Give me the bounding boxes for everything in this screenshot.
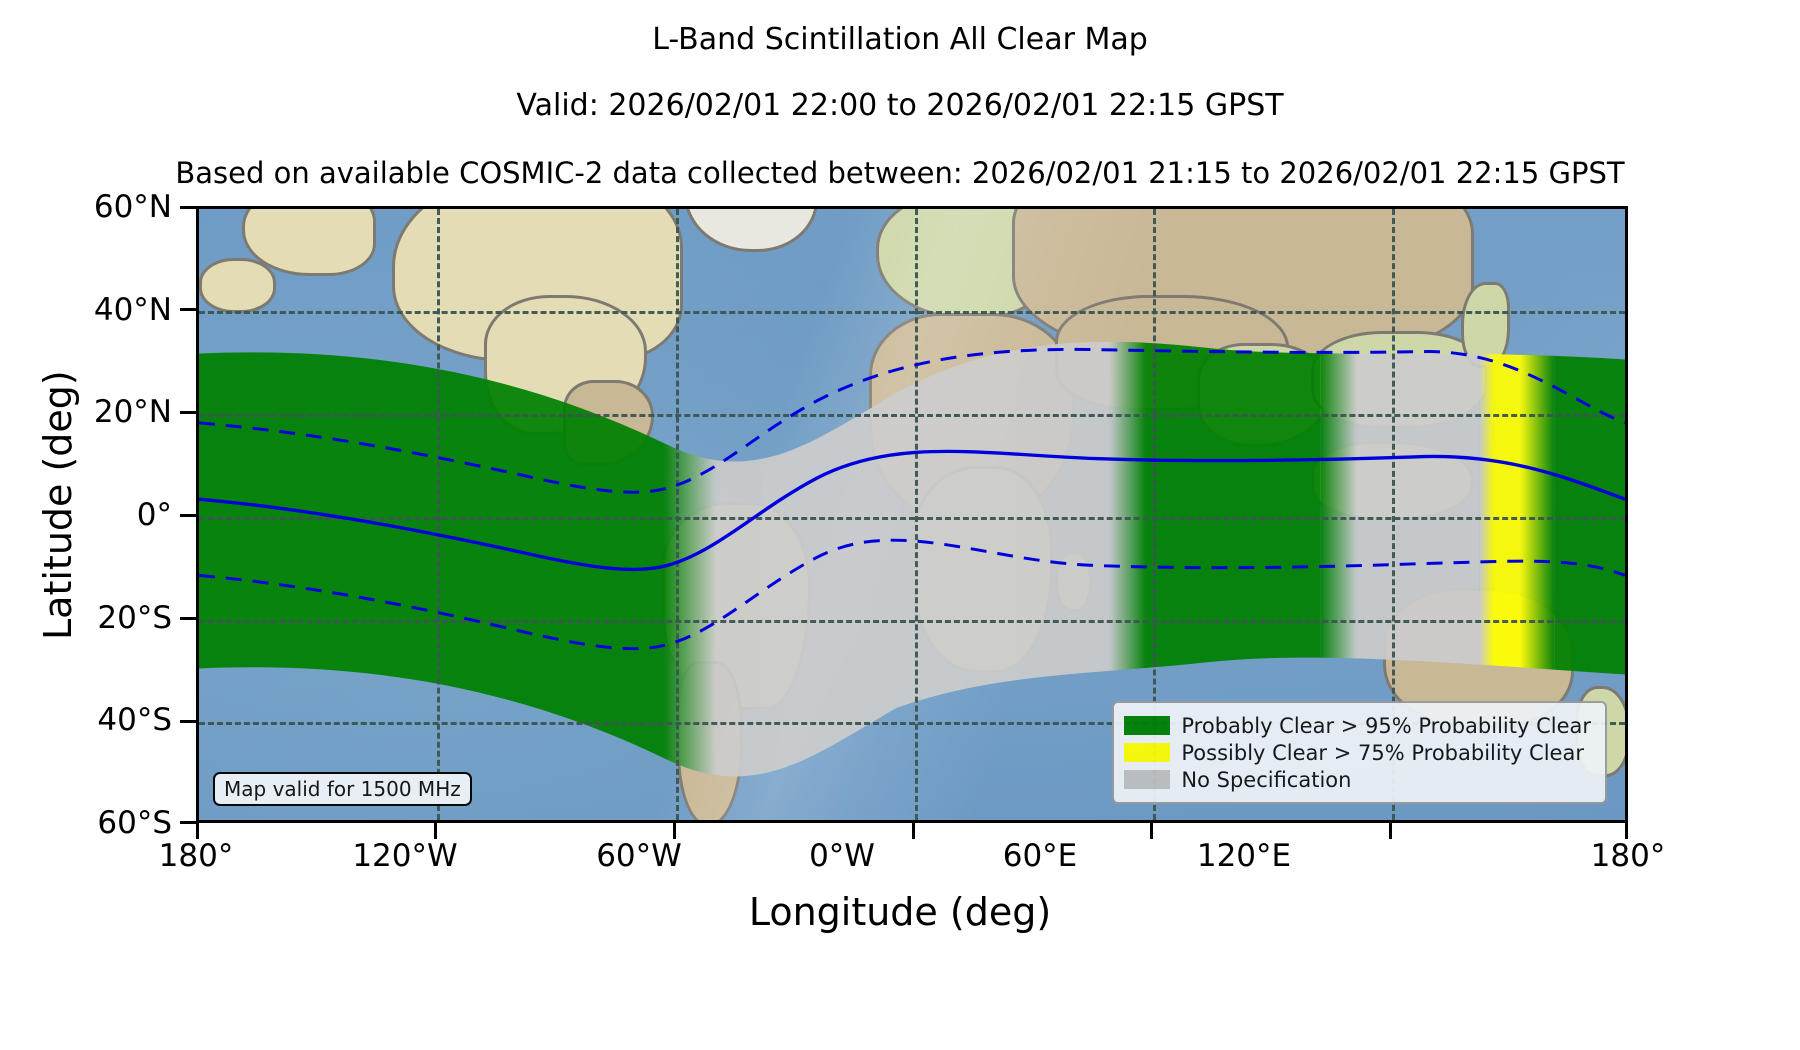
- y-tick-mark: [180, 617, 196, 620]
- legend-label-probably-clear: Probably Clear > 95% Probability Clear: [1181, 714, 1591, 738]
- y-axis-label: Latitude (deg): [36, 370, 80, 640]
- x-tick-label-120e: 120°E: [1164, 838, 1324, 874]
- legend-item-possibly-clear: Possibly Clear > 75% Probability Clear: [1124, 739, 1591, 766]
- y-tick-mark: [180, 514, 196, 517]
- x-tick-mark: [673, 823, 676, 839]
- x-axis-label: Longitude (deg): [0, 890, 1800, 934]
- x-tick-mark: [1150, 823, 1153, 839]
- x-tick-mark: [1389, 823, 1392, 839]
- y-tick-label-20s: 20°S: [97, 600, 172, 636]
- x-tick-mark: [196, 823, 199, 839]
- y-tick-label-40n: 40°N: [94, 292, 172, 328]
- y-tick-mark: [180, 206, 196, 209]
- x-tick-mark: [1625, 823, 1628, 839]
- x-tick-label-180e: 180°: [1558, 838, 1698, 874]
- x-tick-label-0: 0°W: [767, 838, 917, 874]
- legend-swatch-gray: [1124, 770, 1170, 789]
- y-tick-mark: [180, 821, 196, 824]
- x-tick-label-60e: 60°E: [965, 838, 1115, 874]
- legend-label-possibly-clear: Possibly Clear > 75% Probability Clear: [1181, 741, 1584, 765]
- map-plot-area[interactable]: Map valid for 1500 MHz Probably Clear > …: [196, 206, 1628, 823]
- frequency-annotation: Map valid for 1500 MHz: [213, 772, 472, 806]
- legend-swatch-yellow: [1124, 743, 1170, 762]
- x-tick-label-60w: 60°W: [564, 838, 714, 874]
- magnetic-equator-solid-line: [199, 451, 1625, 569]
- y-tick-mark: [180, 308, 196, 311]
- y-tick-label-60s: 60°S: [97, 805, 172, 841]
- legend-swatch-green: [1124, 716, 1170, 735]
- x-tick-mark: [434, 823, 437, 839]
- crest-south-dashed-line: [199, 540, 1625, 648]
- y-tick-label-60n: 60°N: [94, 189, 172, 225]
- x-tick-mark: [912, 823, 915, 839]
- y-tick-mark: [180, 411, 196, 414]
- x-tick-label-120w: 120°W: [325, 838, 485, 874]
- legend-label-no-specification: No Specification: [1181, 768, 1351, 792]
- valid-period-subtitle: Valid: 2026/02/01 22:00 to 2026/02/01 22…: [0, 88, 1800, 123]
- y-tick-label-40s: 40°S: [97, 702, 172, 738]
- x-tick-label-180w: 180°: [126, 838, 266, 874]
- page-title: L-Band Scintillation All Clear Map: [0, 22, 1800, 57]
- map-legend: Probably Clear > 95% Probability Clear P…: [1112, 701, 1607, 804]
- y-tick-mark: [180, 720, 196, 723]
- scintillation-map-page: L-Band Scintillation All Clear Map Valid…: [0, 0, 1800, 1050]
- y-tick-label-20n: 20°N: [94, 394, 172, 430]
- crest-north-dashed-line: [199, 349, 1625, 492]
- data-source-subtitle: Based on available COSMIC-2 data collect…: [0, 156, 1800, 190]
- legend-item-no-specification: No Specification: [1124, 766, 1591, 793]
- legend-item-probably-clear: Probably Clear > 95% Probability Clear: [1124, 712, 1591, 739]
- y-tick-label-0: 0°: [137, 497, 172, 533]
